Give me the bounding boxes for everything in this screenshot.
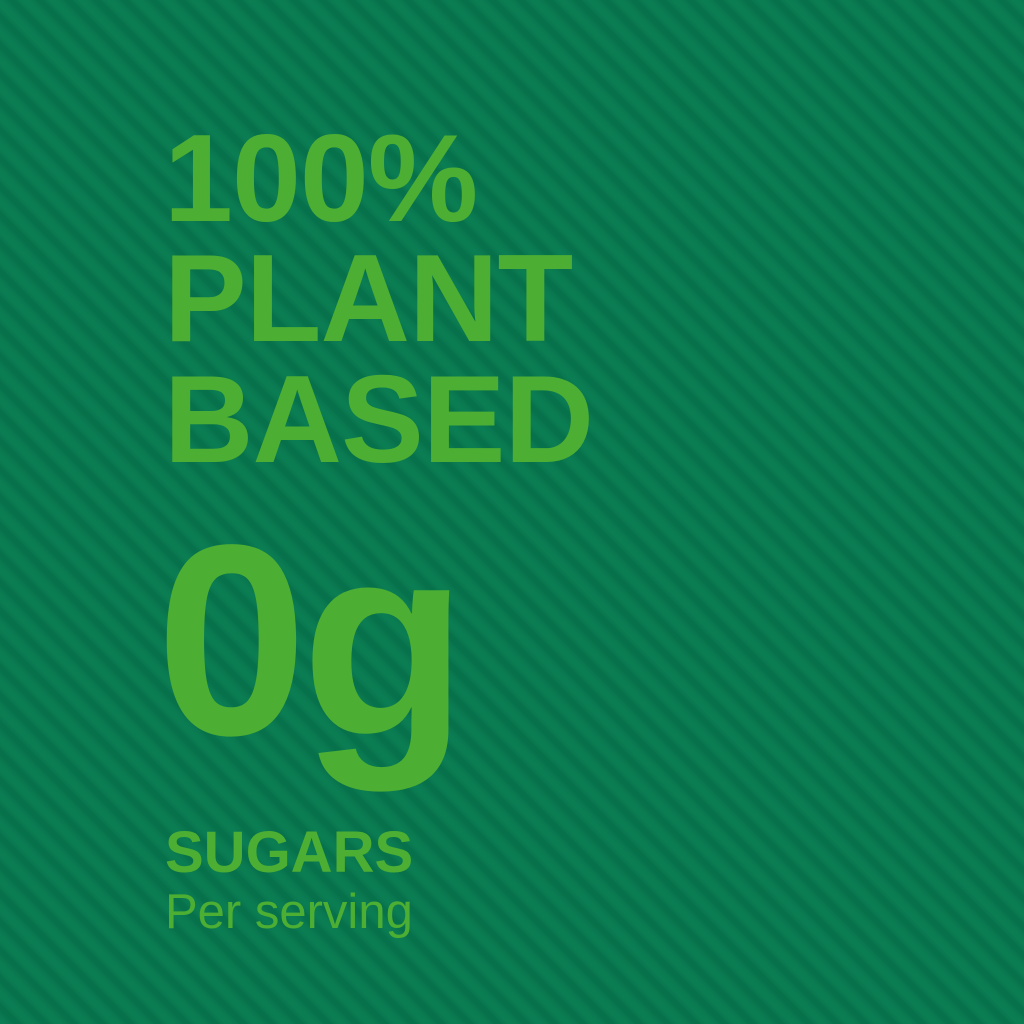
headline-line-based: BASED [164,360,593,480]
plant-based-nutrition-poster: 100% PLANT BASED 0g SUGARS Per serving [0,0,1024,1024]
headline-line-percent: 100% [164,119,593,239]
serving-basis-label: Per serving [165,888,413,937]
nutrient-label-sugars: SUGARS [165,824,413,882]
sugar-amount-value: 0g [156,504,461,776]
headline-block: 100% PLANT BASED [164,119,593,480]
headline-line-plant: PLANT [164,239,593,359]
poster-content: 100% PLANT BASED 0g SUGARS Per serving [164,0,984,1024]
